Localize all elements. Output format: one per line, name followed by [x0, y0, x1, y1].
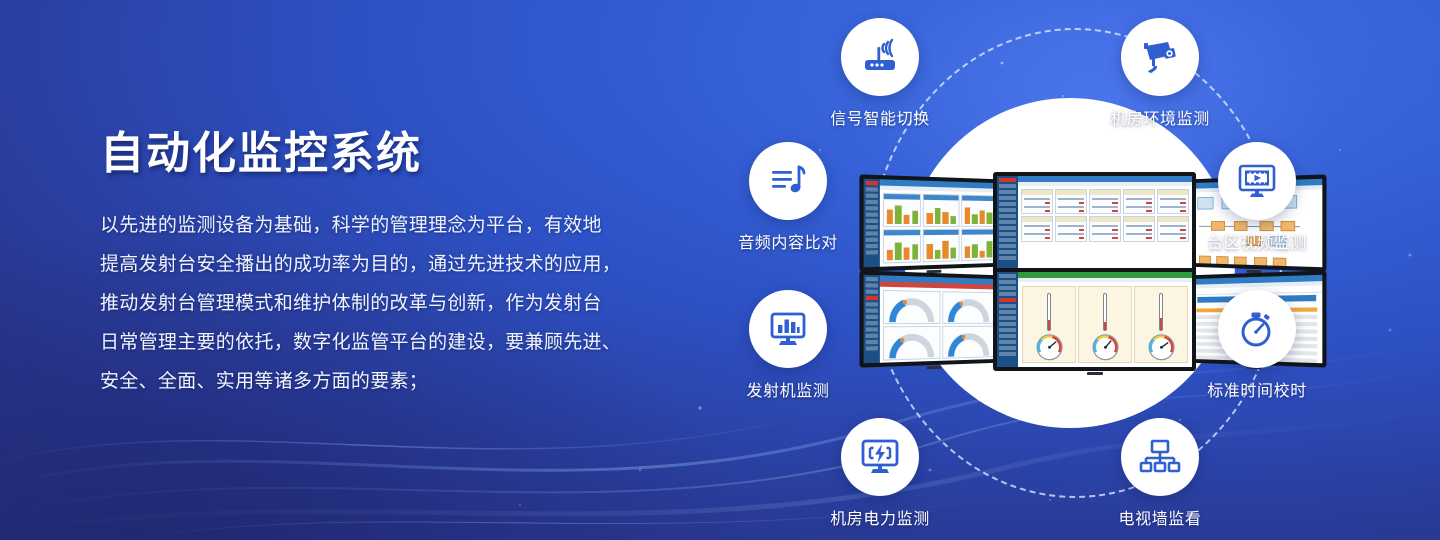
router-wireless-icon: [859, 36, 901, 78]
paragraph-line: 安全、全面、实用等诸多方面的要素；: [100, 362, 700, 401]
arc-gauge-icon: [886, 326, 937, 361]
hero-paragraph: 以先进的监测设备为基础，科学的管理理念为平台，有效地 提高发射台安全播出的成功率…: [100, 206, 700, 401]
monitor-power-icon: [858, 435, 902, 479]
feature-label: 台区视频监测: [1187, 229, 1327, 253]
feature-label: 信号智能切换: [810, 105, 950, 129]
paragraph-line: 日常管理主要的依托，数字化监管平台的建设，要兼顾先进、: [100, 323, 700, 362]
feature-node-area-video[interactable]: 台区视频监测: [1187, 142, 1327, 253]
temperature-panel: [1078, 286, 1132, 363]
music-note-icon: [768, 161, 808, 201]
feature-bubble: [1121, 18, 1199, 96]
chart-cell: [961, 229, 995, 261]
hero-copy: 自动化监控系统 以先进的监测设备为基础，科学的管理理念为平台，有效地 提高发射台…: [100, 130, 700, 401]
thermometer-icon: [1047, 293, 1051, 331]
status-card: [1123, 216, 1155, 241]
screen-sidebar: [864, 275, 880, 364]
monitor-screen-bar-charts[interactable]: [859, 174, 1000, 271]
page-title: 自动化监控系统: [100, 130, 700, 178]
monitor-screen-thermometers[interactable]: [993, 268, 1196, 371]
stopwatch-icon: [1235, 307, 1279, 351]
monitor-video-icon: [1235, 159, 1279, 203]
gauge-cell: [883, 290, 941, 324]
device-status-grid: [1018, 186, 1192, 245]
feature-label: 发射机监测: [718, 377, 858, 401]
arc-gauge-grid: [880, 287, 998, 364]
feature-bubble: [841, 18, 919, 96]
feature-bubble: [1218, 142, 1296, 220]
feature-node-room-power[interactable]: 机房电力监测: [810, 418, 950, 529]
gauge-cell: [942, 326, 995, 359]
security-camera-icon: [1138, 35, 1182, 79]
chart-cell: [923, 229, 959, 262]
screen-sidebar: [997, 176, 1018, 271]
feature-diagram: 信号智能切换 机房环境监测 音频: [700, 0, 1440, 540]
monitor-barchart-icon: [766, 307, 810, 351]
round-gauge-icon: [1091, 333, 1120, 362]
arc-gauge-icon: [945, 291, 992, 324]
status-card: [1021, 216, 1053, 241]
thermometer-icon: [1159, 293, 1163, 331]
arc-gauge-icon: [886, 290, 937, 324]
feature-label: 机房环境监测: [1090, 105, 1230, 129]
screen-sidebar: [864, 179, 880, 268]
status-card: [1123, 189, 1155, 214]
status-card: [1089, 216, 1121, 241]
chart-cell: [883, 193, 921, 227]
arc-gauge-icon: [945, 326, 992, 359]
hierarchy-icon: [1139, 436, 1181, 478]
feature-node-tv-wall[interactable]: 电视墙监看: [1090, 418, 1230, 529]
feature-bubble: [1121, 418, 1199, 496]
feature-label: 音频内容比对: [718, 229, 858, 253]
feature-bubble: [749, 142, 827, 220]
round-gauge-icon: [1147, 333, 1176, 362]
chart-cell: [961, 195, 995, 227]
paragraph-line: 推动发射台管理模式和维护体制的改革与创新，作为发射台: [100, 284, 700, 323]
paragraph-line: 以先进的监测设备为基础，科学的管理理念为平台，有效地: [100, 206, 700, 245]
feature-bubble: [841, 418, 919, 496]
round-gauge-icon: [1035, 333, 1064, 362]
feature-label: 机房电力监测: [810, 505, 950, 529]
chart-cell: [923, 194, 959, 227]
feature-node-audio-compare[interactable]: 音频内容比对: [718, 142, 858, 253]
monitor-screen-gauges[interactable]: [859, 270, 1000, 367]
feature-node-transmitter[interactable]: 发射机监测: [718, 290, 858, 401]
paragraph-line: 提高发射台安全播出的成功率为目的，通过先进技术的应用，: [100, 245, 700, 284]
bar-chart-grid: [880, 190, 998, 267]
monitor-screen-data-grid[interactable]: [993, 172, 1196, 275]
status-card: [1157, 216, 1189, 241]
screen-sidebar: [997, 272, 1018, 367]
feature-node-room-environment[interactable]: 机房环境监测: [1090, 18, 1230, 129]
temperature-panel: [1134, 286, 1188, 363]
status-card: [1157, 189, 1189, 214]
gauge-cell: [883, 326, 941, 361]
status-card: [1055, 189, 1087, 214]
status-card: [1021, 189, 1053, 214]
gauge-cell: [942, 291, 995, 324]
status-card: [1089, 189, 1121, 214]
status-card: [1055, 216, 1087, 241]
feature-node-time-sync[interactable]: 标准时间校时: [1187, 290, 1327, 401]
thermometer-icon: [1103, 293, 1107, 331]
temperature-panel: [1022, 286, 1076, 363]
feature-node-signal-switch[interactable]: 信号智能切换: [810, 18, 950, 129]
temperature-panel-grid: [1018, 282, 1192, 367]
feature-label: 电视墙监看: [1090, 505, 1230, 529]
feature-label: 标准时间校时: [1187, 377, 1327, 401]
chart-cell: [883, 229, 921, 263]
feature-bubble: [749, 290, 827, 368]
feature-bubble: [1218, 290, 1296, 368]
